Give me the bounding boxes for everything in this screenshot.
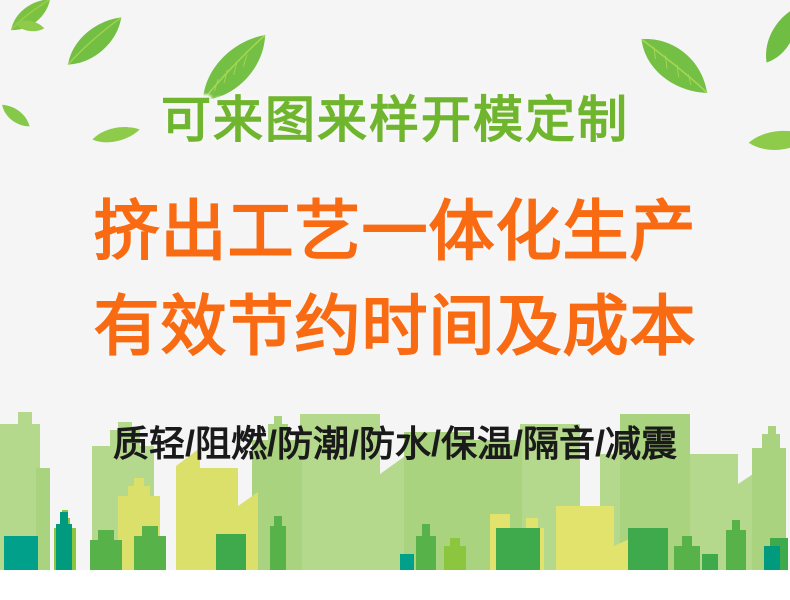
leaf-icon-right-upper <box>748 4 790 70</box>
headline-orange-line-2: 有效节约时间及成本 <box>0 293 790 359</box>
leaf-icon-right-big <box>627 31 722 103</box>
headline-orange-line-1: 挤出工艺一体化生产 <box>0 198 790 264</box>
headline-green-line: 可来图来样开模定制 <box>0 95 790 145</box>
promo-banner: 可来图来样开模定制 挤出工艺一体化生产 有效节约时间及成本 质轻/阻燃/防潮/防… <box>0 0 790 600</box>
feature-list-line: 质轻/阻燃/防潮/防水/保温/隔音/减震 <box>0 426 790 462</box>
leaf-icon-upper-mid <box>56 13 134 71</box>
bottom-white-strip <box>0 570 790 600</box>
